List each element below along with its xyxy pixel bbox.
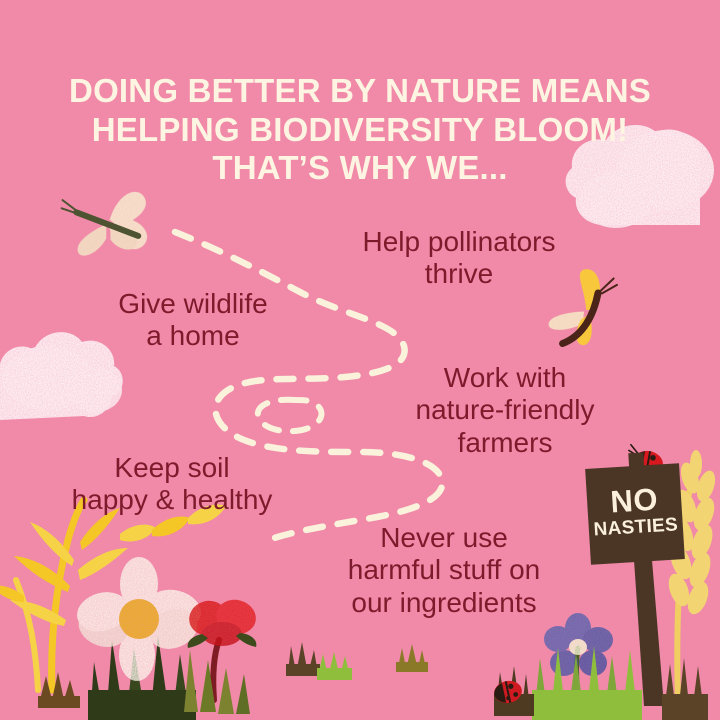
point-help-pollinators: Help pollinators thrive bbox=[329, 226, 589, 291]
point-wildlife-line-1: Give wildlife bbox=[88, 288, 298, 320]
no-nasties-sign: NO NASTIES bbox=[585, 463, 685, 565]
butterfly-cream bbox=[61, 189, 153, 259]
grass-tuft-ladybug bbox=[494, 666, 534, 716]
grass-tuft-center-right bbox=[396, 644, 428, 672]
point-farmers-line-3: farmers bbox=[392, 427, 618, 459]
headline-line-1: DOING BETTER BY NATURE MEANS bbox=[0, 72, 720, 111]
sign-line-2: NASTIES bbox=[588, 513, 683, 543]
point-farmers-line-1: Work with bbox=[392, 362, 618, 394]
point-ingredients-line-3: our ingredients bbox=[318, 587, 570, 619]
oat-stalk-yellow bbox=[0, 500, 226, 708]
point-soil-line-1: Keep soil bbox=[44, 452, 300, 484]
daisy-white bbox=[72, 557, 205, 681]
point-never-use-harmful-stuff: Never use harmful stuff on our ingredien… bbox=[318, 522, 570, 619]
page-title: DOING BETTER BY NATURE MEANS HELPING BIO… bbox=[0, 72, 720, 188]
poster-canvas: DOING BETTER BY NATURE MEANS HELPING BIO… bbox=[0, 0, 720, 720]
grass-tuft-daisy-right bbox=[184, 650, 250, 714]
headline-line-3: THAT’S WHY WE... bbox=[0, 149, 720, 188]
sign-nub bbox=[628, 452, 644, 467]
grass-tuft-center bbox=[286, 642, 352, 680]
point-wildlife-line-2: a home bbox=[88, 320, 298, 352]
point-give-wildlife-a-home: Give wildlife a home bbox=[88, 288, 298, 353]
point-ingredients-line-1: Never use bbox=[318, 522, 570, 554]
ladybug-bottom-left bbox=[492, 678, 524, 705]
flower-blue bbox=[544, 613, 613, 700]
point-work-with-nature-friendly-farmers: Work with nature-friendly farmers bbox=[392, 362, 618, 459]
headline-line-2: HELPING BIODIVERSITY BLOOM! bbox=[0, 111, 720, 150]
point-ingredients-line-2: harmful stuff on bbox=[318, 554, 570, 586]
grass-tuft-left bbox=[88, 636, 196, 720]
grass-tuft-far-right bbox=[662, 658, 708, 720]
point-keep-soil-happy-healthy: Keep soil happy & healthy bbox=[44, 452, 300, 517]
grass-tuft-right bbox=[532, 646, 642, 720]
sign-post bbox=[634, 560, 664, 706]
point-soil-line-2: happy & healthy bbox=[44, 484, 300, 516]
poppy-red bbox=[185, 596, 260, 700]
point-pollinators-line-2: thrive bbox=[329, 258, 589, 290]
point-pollinators-line-1: Help pollinators bbox=[329, 226, 589, 258]
point-farmers-line-2: nature-friendly bbox=[392, 394, 618, 426]
